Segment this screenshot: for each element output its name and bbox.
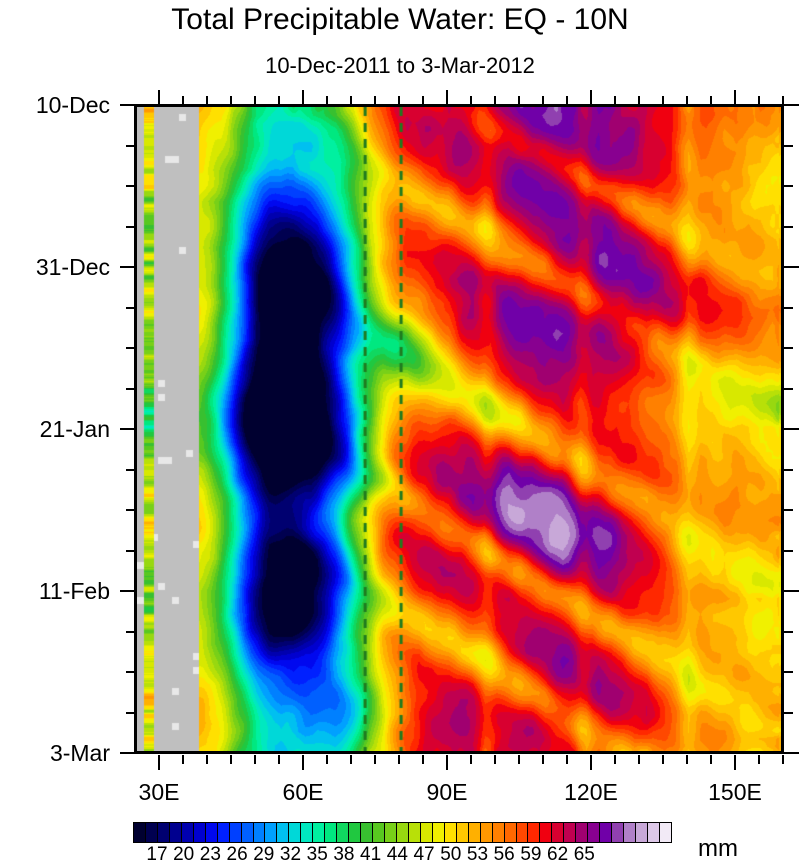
colorbar-cell [182,823,194,842]
y-axis-minor-tick-right [784,509,793,511]
x-axis-major-tick-top [590,90,592,105]
y-axis-minor-tick-right [784,307,793,309]
x-axis-major-tick [446,755,448,770]
colorbar-cell [588,823,600,842]
colorbar-cell [445,823,457,842]
y-axis-minor-tick [126,226,135,228]
y-axis-tick-label: 21-Jan [0,418,110,441]
x-axis-minor-tick [470,755,472,764]
colorbar-cell [301,823,313,842]
x-axis-minor-tick-top [206,96,208,105]
x-axis-minor-tick [566,755,568,764]
colorbar-cell [242,823,254,842]
colorbar-units-label: mm [698,836,738,862]
x-axis-tick-label: 150E [675,781,795,804]
colorbar-cell [540,823,552,842]
x-axis-major-tick-top [446,90,448,105]
colorbar-cell [552,823,564,842]
x-axis-minor-tick [350,755,352,764]
x-axis-minor-tick-top [182,96,184,105]
y-axis-major-tick-right [784,752,799,754]
x-axis-minor-tick [614,755,616,764]
x-axis-minor-tick [182,755,184,764]
x-axis-minor-tick-top [782,96,784,105]
heatmap-field [137,107,783,753]
x-axis-minor-tick-top [542,96,544,105]
y-axis-minor-tick-right [784,388,793,390]
y-axis-minor-tick-right [784,226,793,228]
y-axis-major-tick [120,752,135,754]
x-axis-minor-tick-top [758,96,760,105]
x-axis-minor-tick-top [470,96,472,105]
y-axis-minor-tick [126,347,135,349]
x-axis-minor-tick [710,755,712,764]
x-axis-minor-tick-top [254,96,256,105]
x-axis-minor-tick [254,755,256,764]
x-axis-minor-tick-top [398,96,400,105]
x-axis-minor-tick [374,755,376,764]
colorbar-cell [421,823,433,842]
x-axis-minor-tick [638,755,640,764]
x-axis-minor-tick [518,755,520,764]
x-axis-minor-tick-top [638,96,640,105]
x-axis-minor-tick [494,755,496,764]
colorbar-cell [409,823,421,842]
y-axis-minor-tick [126,631,135,633]
x-axis-minor-tick-top [230,96,232,105]
x-axis-minor-tick-top [710,96,712,105]
x-axis-minor-tick [230,755,232,764]
y-axis-minor-tick-right [784,469,793,471]
x-axis-minor-tick-top [374,96,376,105]
colorbar-cell [493,823,505,842]
x-axis-minor-tick-top [278,96,280,105]
colorbar-cell [158,823,170,842]
heatmap-plot-area [135,105,783,753]
colorbar-cell [361,823,373,842]
x-axis-minor-tick-top [422,96,424,105]
y-axis-tick-label: 3-Mar [0,742,110,765]
y-axis-major-tick [120,590,135,592]
y-axis-minor-tick [126,509,135,511]
y-axis-minor-tick [126,388,135,390]
colorbar-cell [373,823,385,842]
x-axis-minor-tick [542,755,544,764]
x-axis-minor-tick [782,755,784,764]
colorbar-cell [230,823,242,842]
colorbar-cell [517,823,529,842]
colorbar-cell [254,823,266,842]
colorbar-cell [170,823,182,842]
colorbar-cell [564,823,576,842]
colorbar-cell [469,823,481,842]
y-axis-major-tick-right [784,104,799,106]
y-axis-major-tick [120,104,135,106]
y-axis-minor-tick [126,712,135,714]
y-axis-major-tick [120,266,135,268]
colorbar-cell [194,823,206,842]
y-axis-minor-tick-right [784,550,793,552]
colorbar-cell [265,823,277,842]
colorbar[interactable] [133,822,672,843]
colorbar-cell [600,823,612,842]
colorbar-cell [337,823,349,842]
x-axis-minor-tick [398,755,400,764]
x-axis-minor-tick-top [326,96,328,105]
figure-subtitle: 10-Dec-2011 to 3-Mar-2012 [0,53,800,79]
colorbar-cell [505,823,517,842]
x-axis-minor-tick-top [614,96,616,105]
y-axis-tick-label: 10-Dec [0,94,110,117]
x-axis-minor-tick-top [518,96,520,105]
y-axis-minor-tick [126,145,135,147]
colorbar-cell [612,823,624,842]
colorbar-tick-label: 65 [554,845,614,865]
colorbar-cell [457,823,469,842]
colorbar-cell [648,823,660,842]
x-axis-minor-tick [758,755,760,764]
page-title: Total Precipitable Water: EQ - 10N [0,2,800,38]
y-axis-minor-tick [126,671,135,673]
colorbar-cell [206,823,218,842]
colorbar-cell [636,823,648,842]
y-axis-minor-tick-right [784,347,793,349]
x-axis-major-tick [158,755,160,770]
x-axis-minor-tick [662,755,664,764]
colorbar-tick-labels: 1720232629323538414447505356596265 [0,845,800,867]
x-axis-major-tick-top [734,90,736,105]
x-axis-tick-label: 30E [99,781,219,804]
colorbar-cell [313,823,325,842]
x-axis-minor-tick [278,755,280,764]
colorbar-cell [289,823,301,842]
x-axis-major-tick-top [302,90,304,105]
y-axis-tick-label: 11-Feb [0,580,110,603]
colorbar-cell [660,823,671,842]
x-axis-major-tick-top [158,90,160,105]
y-axis-minor-tick-right [784,671,793,673]
colorbar-cell [433,823,445,842]
figure-canvas: Total Precipitable Water: EQ - 10N 10-De… [0,0,800,867]
x-axis-minor-tick [206,755,208,764]
colorbar-cell [576,823,588,842]
x-axis-minor-tick-top [350,96,352,105]
colorbar-cell [146,823,158,842]
colorbar-cell [397,823,409,842]
x-axis-major-tick [302,755,304,770]
colorbar-cell [325,823,337,842]
colorbar-cell [385,823,397,842]
x-axis-major-tick [734,755,736,770]
y-axis-minor-tick [126,307,135,309]
x-axis-major-tick [590,755,592,770]
y-axis-major-tick-right [784,266,799,268]
y-axis-major-tick-right [784,590,799,592]
x-axis-minor-tick-top [686,96,688,105]
x-axis-tick-label: 120E [531,781,651,804]
x-axis-minor-tick-top [494,96,496,105]
x-axis-minor-tick-top [662,96,664,105]
colorbar-cell [349,823,361,842]
colorbar-cell [528,823,540,842]
colorbar-cell [277,823,289,842]
y-axis-major-tick-right [784,428,799,430]
x-axis-tick-label: 60E [243,781,363,804]
y-axis-minor-tick-right [784,185,793,187]
colorbar-cell [481,823,493,842]
colorbar-cell [134,823,146,842]
y-axis-tick-label: 31-Dec [0,256,110,279]
y-axis-minor-tick [126,185,135,187]
y-axis-minor-tick-right [784,712,793,714]
colorbar-cell [624,823,636,842]
y-axis-minor-tick [126,469,135,471]
colorbar-cell [218,823,230,842]
y-axis-minor-tick-right [784,631,793,633]
x-axis-minor-tick [326,755,328,764]
x-axis-minor-tick [422,755,424,764]
x-axis-tick-label: 90E [387,781,507,804]
x-axis-minor-tick [686,755,688,764]
y-axis-minor-tick-right [784,145,793,147]
x-axis-minor-tick-top [566,96,568,105]
y-axis-minor-tick [126,550,135,552]
y-axis-major-tick [120,428,135,430]
